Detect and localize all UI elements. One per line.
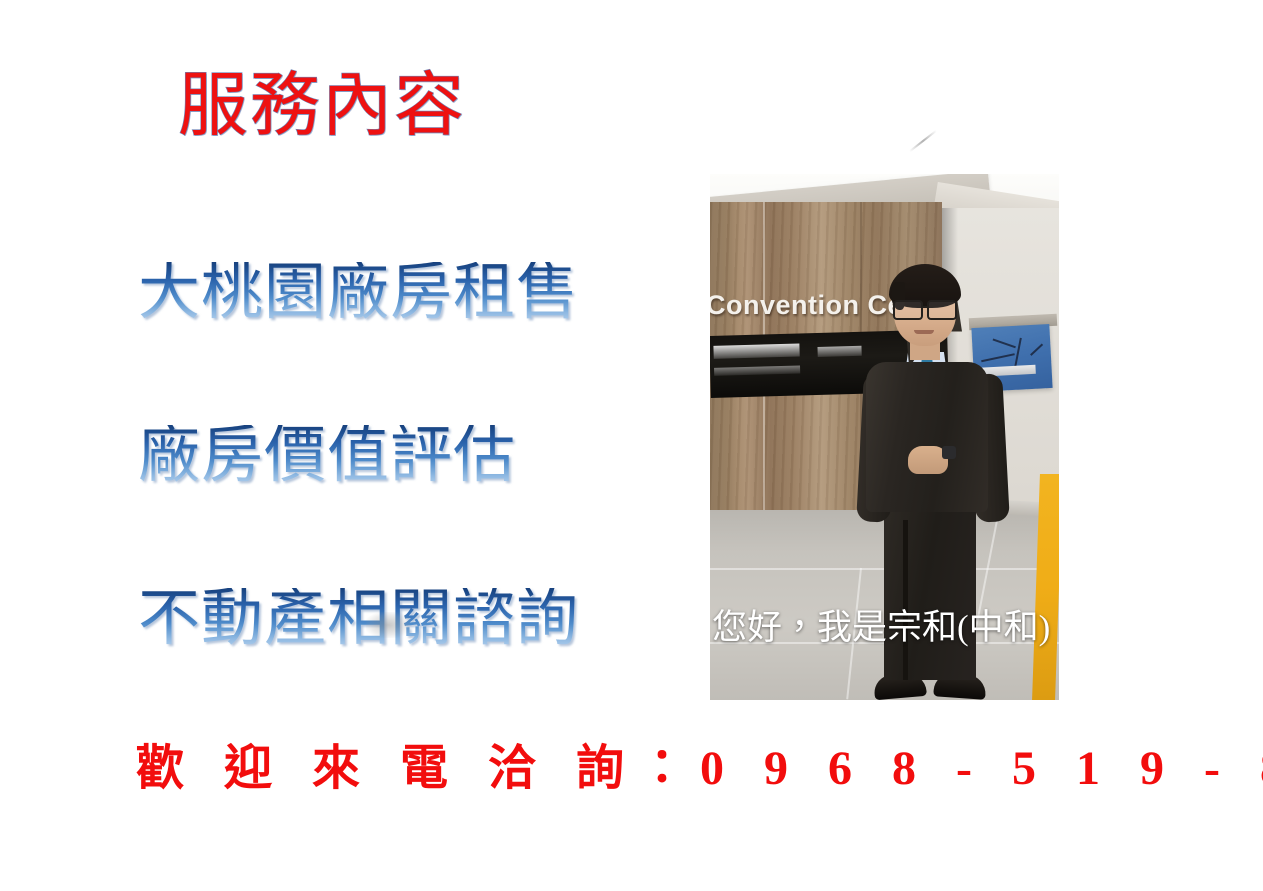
mouth [914,330,934,334]
contact-phone-line: 歡 迎 來 電 洽 詢：0 9 6 8 - 5 1 9 - 8 8 8 [136,745,1263,793]
service-item-2: 廠房價值評估 [138,425,516,487]
desk-reflection [817,346,861,357]
wristwatch [942,446,956,459]
artwork-scribble [1030,344,1043,356]
photo-scene: Convention Ce [710,174,1059,700]
service-item-1: 大桃園廠房租售 [138,262,579,324]
slide-canvas: 服務內容 大桃園廠房租售 廠房價值評估 不動產相關諮詢 Convention C… [0,0,1263,891]
photo-caption: 您好，我是宗和(中和) [712,610,1059,645]
glasses-icon [891,300,959,317]
desk-reflection [713,343,799,358]
trouser-gap [903,520,908,680]
profile-photo: Convention Ce [710,174,1059,700]
suit-trousers [884,498,976,680]
glasses-lens-left [893,300,923,320]
glasses-lens-right [927,300,957,320]
desk-reflection [714,365,800,375]
suit-jacket [866,362,988,512]
service-item-3: 不動產相關諮詢 [138,588,579,650]
scan-streak-artifact [909,130,937,153]
page-title: 服務內容 [178,72,466,142]
